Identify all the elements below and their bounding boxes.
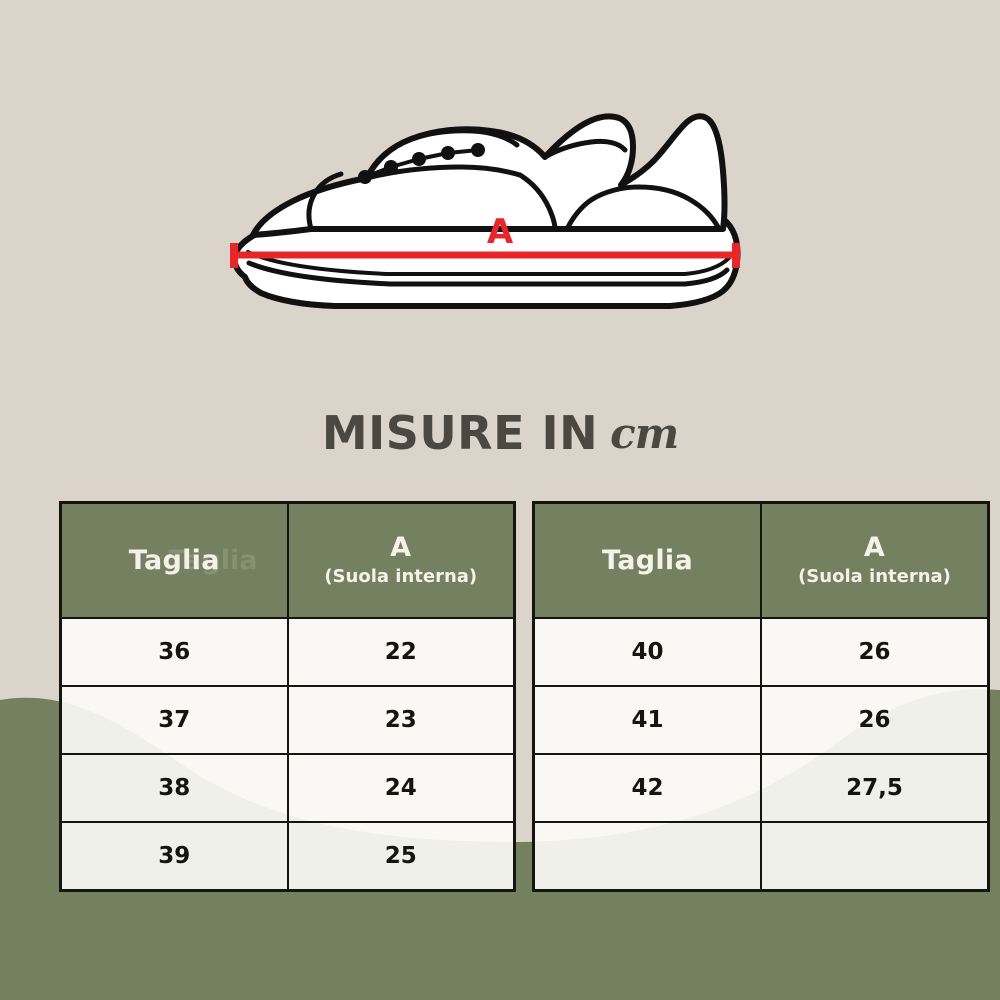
table-row — [534, 822, 989, 891]
cell-size: 39 — [61, 822, 288, 891]
cell-length: 23 — [288, 686, 515, 754]
cell-length: 24 — [288, 754, 515, 822]
cell-size: 42 — [534, 754, 762, 822]
column-header-taglia-label: Taglia — [62, 545, 287, 576]
column-header-a: A (Suola interna) — [288, 503, 515, 619]
page-title-unit: cm — [610, 409, 678, 458]
cell-size: 38 — [61, 754, 288, 822]
column-header-taglia: Taglia Taglia — [61, 503, 288, 619]
column-header-a-label: A — [289, 532, 514, 563]
page-title-main: MISURE IN — [322, 406, 598, 460]
cell-size: 40 — [534, 618, 762, 686]
table-row: 42 27,5 — [534, 754, 989, 822]
size-table-right: Taglia A (Suola interna) 40 26 41 26 42 … — [532, 501, 990, 892]
table-header-row: Taglia Taglia A (Suola interna) — [61, 503, 515, 619]
cell-size: 36 — [61, 618, 288, 686]
table-row: 41 26 — [534, 686, 989, 754]
cell-size — [534, 822, 762, 891]
sneaker-illustration: A — [215, 95, 785, 350]
cell-length: 27,5 — [761, 754, 989, 822]
table-row: 40 26 — [534, 618, 989, 686]
cell-length: 26 — [761, 686, 989, 754]
column-header-a-sublabel: (Suola interna) — [762, 565, 987, 588]
column-header-a: A (Suola interna) — [761, 503, 989, 619]
cell-size: 37 — [61, 686, 288, 754]
column-header-taglia-label: Taglia — [535, 545, 760, 576]
table-row: 39 25 — [61, 822, 515, 891]
size-table-left: Taglia Taglia A (Suola interna) 36 22 37… — [59, 501, 516, 892]
cell-length: 25 — [288, 822, 515, 891]
page-title: MISURE INcm — [0, 406, 1000, 460]
cell-length: 26 — [761, 618, 989, 686]
table-header-row: Taglia A (Suola interna) — [534, 503, 989, 619]
column-header-taglia: Taglia — [534, 503, 762, 619]
table-row: 36 22 — [61, 618, 515, 686]
cell-size: 41 — [534, 686, 762, 754]
cell-length — [761, 822, 989, 891]
table-row: 37 23 — [61, 686, 515, 754]
column-header-a-label: A — [762, 532, 987, 563]
table-row: 38 24 — [61, 754, 515, 822]
column-header-a-sublabel: (Suola interna) — [289, 565, 514, 588]
cell-length: 22 — [288, 618, 515, 686]
size-chart-page: A MISURE INcm Taglia Taglia A (Suola int… — [0, 0, 1000, 1000]
measure-label: A — [487, 212, 514, 252]
